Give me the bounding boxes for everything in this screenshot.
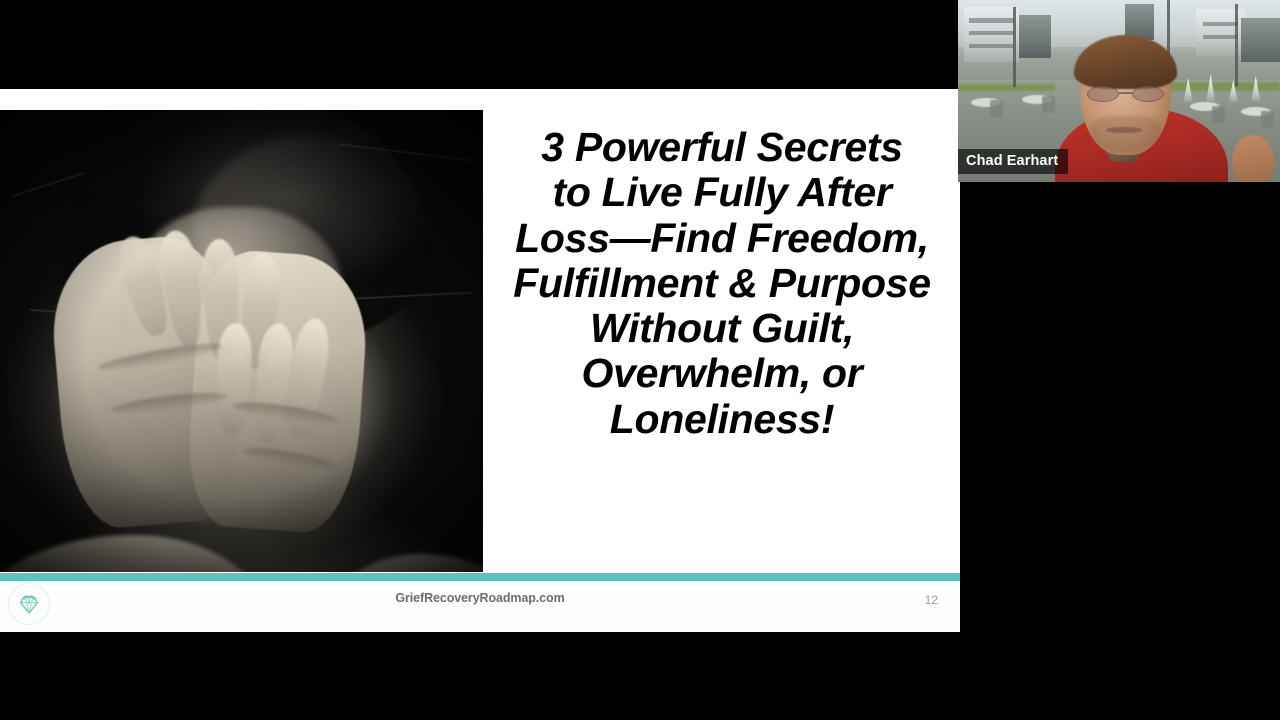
video-window (969, 44, 1014, 49)
video-lamp-post (1235, 4, 1238, 88)
video-patio-chair (990, 100, 1003, 117)
participant-video-tile[interactable]: Chad Earhart (958, 0, 1280, 182)
video-building (1019, 15, 1051, 59)
video-lamp-post (1013, 7, 1016, 87)
shared-slide[interactable]: 3 Powerful Secrets to Live Fully After L… (0, 89, 960, 632)
participant-glasses (1087, 86, 1164, 102)
slide-footer: GriefRecoveryRoadmap.com 12 (0, 581, 960, 632)
video-window (1203, 22, 1238, 27)
slide-photo (0, 110, 483, 572)
video-window (969, 18, 1014, 23)
video-window (1203, 35, 1238, 40)
video-building (1241, 18, 1280, 62)
video-hedge (958, 84, 1055, 91)
glasses-lens-left (1087, 86, 1119, 102)
participant-hand (1232, 135, 1274, 182)
video-patio-chair (1212, 106, 1225, 123)
photo-vignette (0, 110, 483, 572)
video-hedge (1158, 82, 1280, 91)
slide-headline: 3 Powerful Secrets to Live Fully After L… (489, 125, 955, 442)
glasses-lens-right (1132, 86, 1164, 102)
footer-url[interactable]: GriefRecoveryRoadmap.com (0, 591, 960, 605)
participant-mouth (1106, 127, 1141, 132)
meeting-screen: 3 Powerful Secrets to Live Fully After L… (0, 0, 1280, 720)
glasses-bridge (1119, 92, 1131, 94)
video-window (969, 31, 1014, 36)
video-patio-chair (1042, 96, 1055, 113)
video-patio-chair (1261, 111, 1274, 128)
accent-rule (0, 573, 960, 581)
participant-name-label: Chad Earhart (958, 149, 1068, 174)
slide-page-number: 12 (925, 593, 938, 607)
